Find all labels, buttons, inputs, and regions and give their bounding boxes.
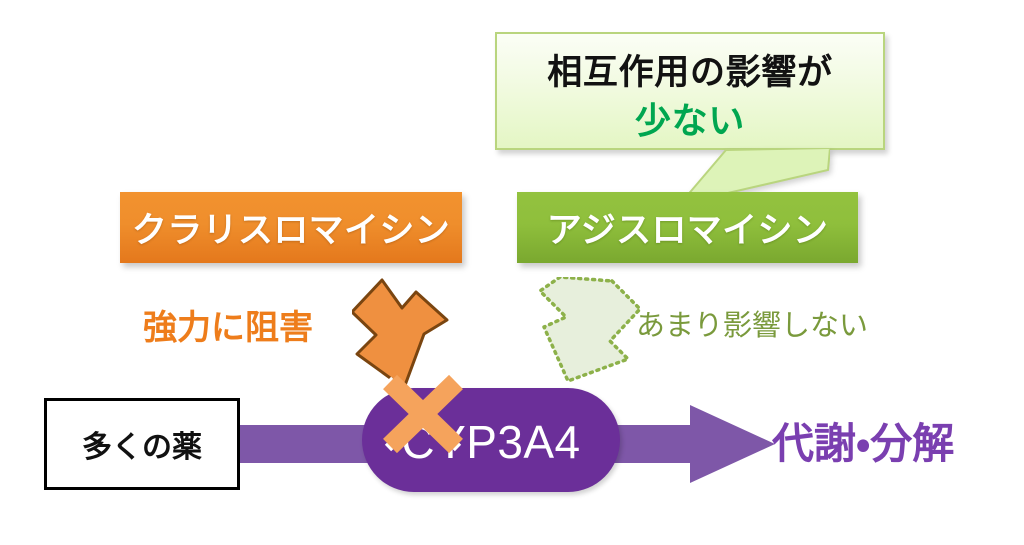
result-label-metabolism: 代謝・分解 <box>772 410 954 471</box>
source-label-many-drugs: 多くの薬 <box>82 422 202 466</box>
diagram-canvas: 相互作用の影響が 少ない クラリスロマイシン アジスロマイシン 強力に阻害 あま… <box>0 0 1024 545</box>
block-x-icon <box>378 370 468 458</box>
drug-label-clarithromycin: クラリスロマイシン <box>132 202 450 253</box>
effect-label-little-influence: あまり影響しない <box>636 302 868 344</box>
callout-line-2: 少ない <box>497 92 883 144</box>
source-box-many-drugs[interactable]: 多くの薬 <box>44 398 240 490</box>
drug-box-clarithromycin[interactable]: クラリスロマイシン <box>120 192 462 263</box>
drug-box-azithromycin[interactable]: アジスロマイシン <box>517 192 858 263</box>
effect-label-strong-inhibition: 強力に阻害 <box>143 300 313 349</box>
weak-influence-arrow-icon <box>536 277 642 385</box>
callout-line-1: 相互作用の影響が <box>497 44 883 95</box>
drug-label-azithromycin: アジスロマイシン <box>547 202 828 253</box>
callout-bubble: 相互作用の影響が 少ない <box>495 32 885 150</box>
